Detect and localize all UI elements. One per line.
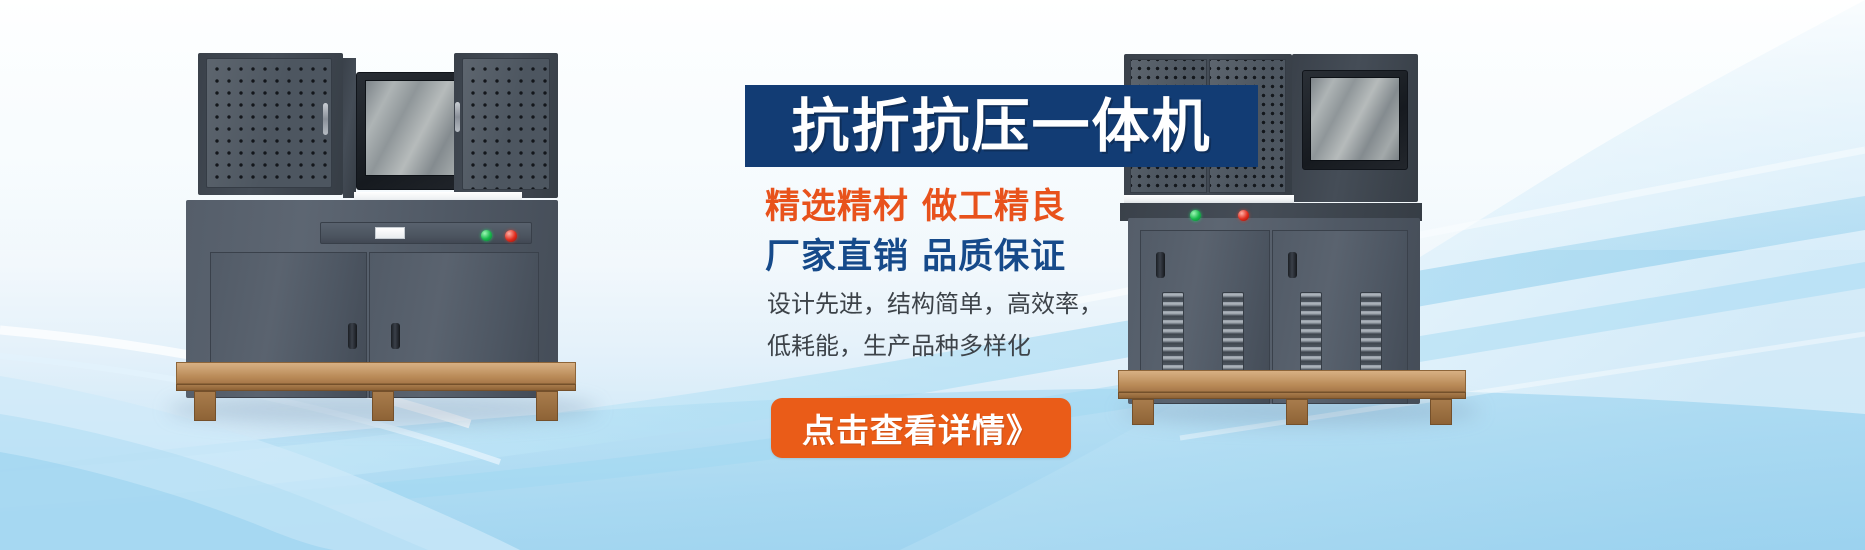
description-line-2: 低耗能，生产品种多样化 [767,326,1031,361]
view-details-button[interactable]: 点击查看详情》 [771,398,1071,458]
left-upper-perforated-door [206,58,332,188]
lower-door-right-handle [1288,252,1297,278]
pallet-top-board [176,362,576,384]
pallet-edge [176,384,576,391]
product-title-banner: 抗折抗压一体机 [745,85,1258,167]
product-title-text: 抗折抗压一体机 [791,97,1211,155]
pallet-leg-1 [194,391,216,421]
monitor-left-wall [343,58,356,198]
description-line-1: 设计先进，结构简单，高效率， [767,284,1103,319]
promo-copy-block: 抗折抗压一体机 精选精材 做工精良 厂家直销 品质保证 设计先进，结构简单，高效… [745,78,1285,478]
pallet-leg-3 [1430,399,1452,425]
drawer-label-plate [375,227,405,239]
lower-door-left-handle [348,323,357,349]
promo-banner: 抗折抗压一体机 精选精材 做工精良 厂家直销 品质保证 设计先进，结构简单，高效… [0,0,1865,550]
pallet-leg-3 [536,391,558,421]
control-drawer [320,222,532,244]
lower-door-right-handle [391,323,400,349]
pallet-leg-2 [372,391,394,421]
indicator-light-red [505,230,517,242]
left-upper-door-handle [323,103,328,135]
monitor-screen [1310,77,1400,161]
pallet-leg-2 [1286,399,1308,425]
highlight-line: 精选精材 做工精良 [765,178,1066,229]
subtitle-line: 厂家直销 品质保证 [765,228,1066,279]
machine-photo-left [150,40,600,440]
right-upper-perforated-door [462,58,550,190]
indicator-light-green [481,230,492,241]
view-details-button-label: 点击查看详情》 [802,404,1040,452]
right-upper-door-handle [455,102,460,132]
